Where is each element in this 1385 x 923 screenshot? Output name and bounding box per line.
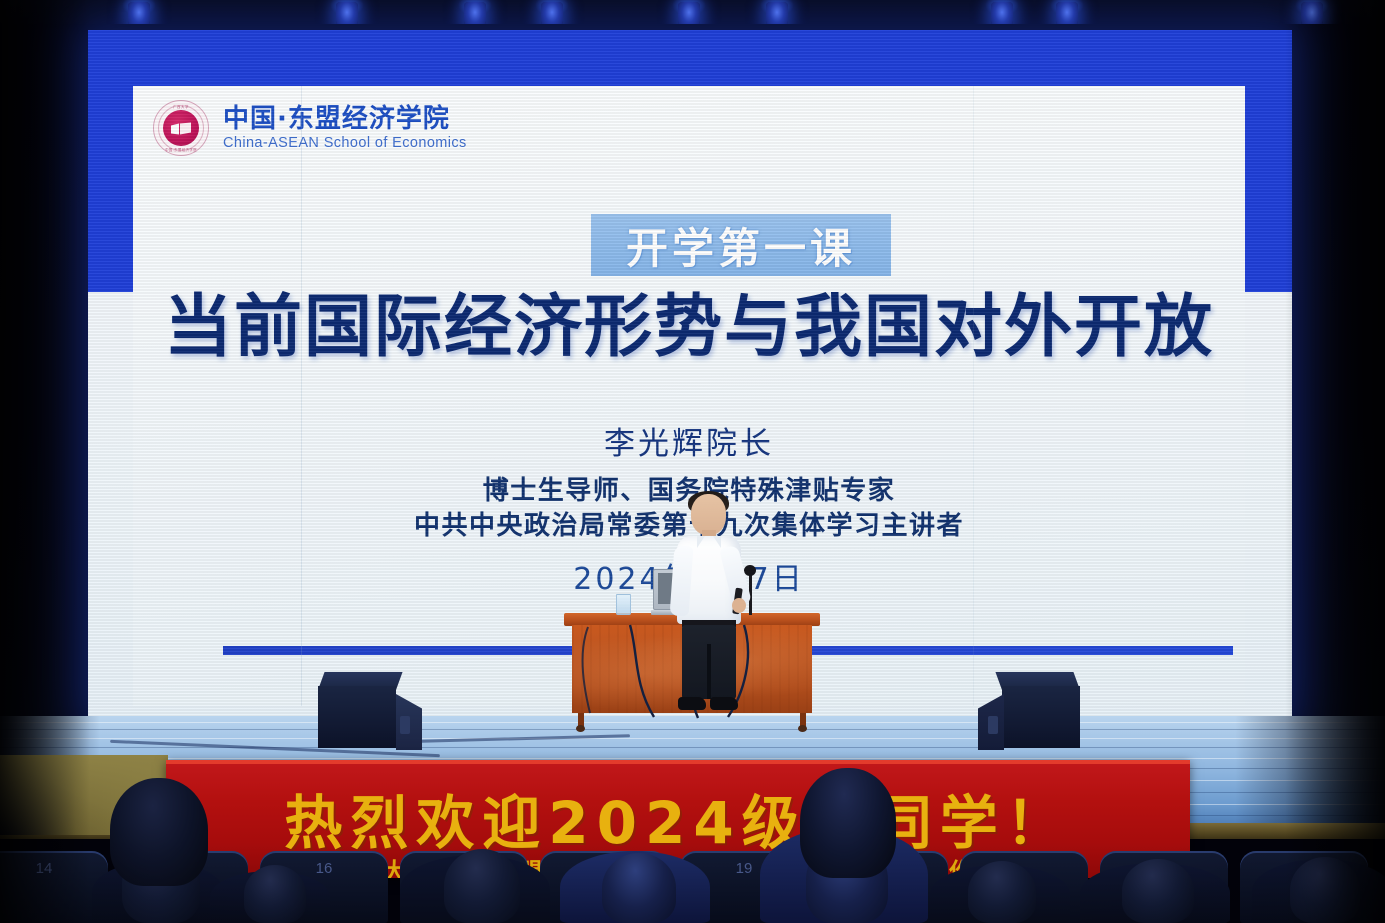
auditorium-scene: 广西大学 中国-东盟经济学院 中国·东盟经济学院 China-ASEAN Sch… bbox=[0, 0, 1385, 923]
brand-name-en: China-ASEAN School of Economics bbox=[223, 135, 467, 151]
emblem-text-top: 广西大学 bbox=[154, 104, 208, 109]
presenter-head bbox=[691, 494, 726, 535]
slide-main-title: 当前国际经济形势与我国对外开放 bbox=[133, 294, 1245, 362]
seat-number: 14 bbox=[0, 860, 108, 877]
lecture-series-badge: 开学第一课 bbox=[591, 214, 891, 276]
attendee-head bbox=[244, 865, 306, 923]
attendee-head bbox=[110, 778, 208, 886]
badge-label: 开学第一课 bbox=[626, 215, 856, 276]
attendee-head bbox=[1290, 857, 1360, 923]
emblem-text-bottom: 中国-东盟经济学院 bbox=[154, 147, 208, 152]
attendee-head bbox=[1122, 859, 1194, 923]
slide-speaker-name: 李光辉院长 bbox=[133, 418, 1245, 463]
brand-name-cn: 中国·东盟经济学院 bbox=[223, 105, 467, 134]
water-glass bbox=[616, 594, 631, 615]
stage-monitor-right bbox=[1002, 672, 1106, 750]
school-emblem-icon: 广西大学 中国-东盟经济学院 bbox=[153, 100, 209, 156]
book-icon bbox=[170, 123, 192, 136]
presenter-shoe bbox=[710, 697, 738, 710]
attendee-head bbox=[602, 853, 676, 923]
attendee-head bbox=[968, 861, 1036, 923]
attendee-head bbox=[444, 849, 520, 923]
attendee-head bbox=[800, 768, 896, 878]
presenter bbox=[660, 494, 756, 730]
slide-logo-block: 广西大学 中国-东盟经济学院 中国·东盟经济学院 China-ASEAN Sch… bbox=[153, 100, 467, 156]
stage-monitor-left bbox=[318, 672, 422, 750]
presenter-shoe bbox=[678, 697, 706, 710]
audience-area: 14 15 16 17 18 19 20 bbox=[0, 800, 1385, 923]
